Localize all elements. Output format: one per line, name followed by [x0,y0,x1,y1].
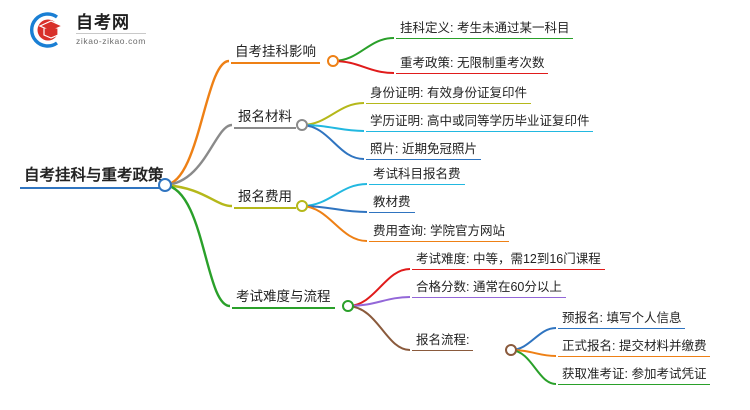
leaf-exam-difficulty[interactable]: 考试难度: 中等，需12到16门课程 [412,253,605,270]
leaf-passing-score[interactable]: 合格分数: 通常在60分以上 [412,281,566,298]
leaf-fail-definition[interactable]: 挂科定义: 考生未通过某一科目 [396,22,573,39]
root-node-dot[interactable] [158,178,172,192]
leaf-fee-inquiry[interactable]: 费用查询: 学院官方网站 [369,225,509,242]
site-logo: 自考网 zikao-zikao.com [28,10,146,50]
leaf-formal-registration[interactable]: 正式报名: 提交材料并缴费 [558,340,710,357]
branch-difficulty-dot[interactable] [342,300,354,312]
branch-fees-dot[interactable] [296,200,308,212]
branch-registration-process-dot[interactable] [505,344,517,356]
leaf-admission-ticket[interactable]: 获取准考证: 参加考试凭证 [558,368,710,385]
leaf-photo[interactable]: 照片: 近期免冠照片 [366,143,481,160]
leaf-retake-policy[interactable]: 重考政策: 无限制重考次数 [396,57,548,74]
leaf-exam-subject-fee[interactable]: 考试科目报名费 [369,168,465,185]
graduation-cap-logo-icon [28,10,68,50]
branch-materials-node[interactable]: 报名材料 [234,110,296,129]
branch-registration-process-node[interactable]: 报名流程: [412,334,473,351]
logo-title: 自考网 [76,14,146,34]
leaf-education-proof[interactable]: 学历证明: 高中或同等学历毕业证复印件 [366,115,593,132]
leaf-textbook-fee[interactable]: 教材费 [369,196,415,213]
leaf-id-proof[interactable]: 身份证明: 有效身份证复印件 [366,87,531,104]
branch-difficulty-node[interactable]: 考试难度与流程 [232,290,335,309]
leaf-pre-registration[interactable]: 预报名: 填写个人信息 [558,312,685,329]
branch-impact-dot[interactable] [327,55,339,67]
mindmap-canvas: 自考网 zikao-zikao.com 自考挂科与重考政策 自考挂科影响 挂科定… [0,0,750,410]
branch-impact-node[interactable]: 自考挂科影响 [231,45,320,64]
logo-subtitle: zikao-zikao.com [76,34,146,46]
branch-materials-dot[interactable] [296,119,308,131]
mindmap-root-node[interactable]: 自考挂科与重考政策 [20,168,168,189]
branch-fees-node[interactable]: 报名费用 [234,190,296,209]
